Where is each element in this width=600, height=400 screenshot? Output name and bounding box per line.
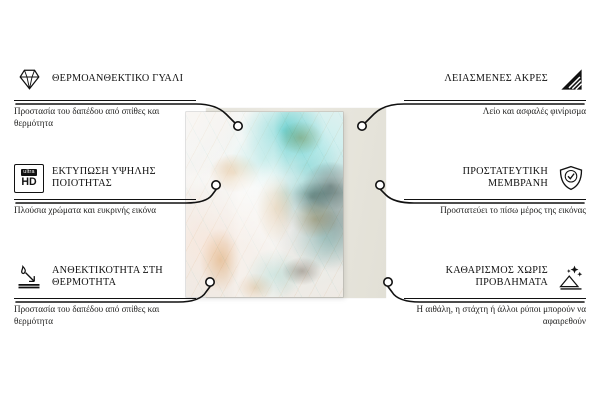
feature-description: Προστατεύει το πίσω μέρος της εικόνας (404, 205, 586, 217)
feature-header: ΠΡΟΣΤΑΤΕΥΤΙΚΗ ΜΕΜΒΡΑΝΗ (404, 161, 586, 195)
feature-title: ΑΝΘΕΚΤΙΚΟΤΗΤΑ ΣΤΗ ΘΕΡΜΟΤΗΤΑ (52, 265, 196, 290)
feature-header: ΛΕΙΑΣΜΕΝΕΣ ΑΚΡΕΣ (404, 62, 586, 96)
easy-clean-sparkle-icon (556, 262, 586, 292)
feature-divider (14, 100, 196, 101)
shield-check-icon (556, 163, 586, 193)
feature-description: Προστασία του δαπέδου από σπίθες και θερ… (14, 106, 196, 129)
feature-divider (14, 298, 196, 299)
feature-description: Πλούσια χρώματα και ευκρινής εικόνα (14, 205, 196, 217)
product-image (186, 112, 386, 297)
feature-title: ΘΕΡΜΟΑΝΘΕΚΤΙΚΟ ΓΥΑΛΙ (52, 73, 196, 85)
feature-high-quality-print: ultra HD ΕΚΤΥΠΩΣΗ ΥΨΗΛΗΣ ΠΟΙΟΤΗΤΑΣ Πλούσ… (14, 161, 196, 217)
feature-divider (404, 100, 586, 101)
feature-divider (404, 298, 586, 299)
feature-title: ΕΚΤΥΠΩΣΗ ΥΨΗΛΗΣ ΠΟΙΟΤΗΤΑΣ (52, 166, 196, 191)
feature-header: ΑΝΘΕΚΤΙΚΟΤΗΤΑ ΣΤΗ ΘΕΡΜΟΤΗΤΑ (14, 260, 196, 294)
feature-header: ΚΑΘΑΡΙΣΜΟΣ ΧΩΡΙΣ ΠΡΟΒΛΗΜΑΤΑ (404, 260, 586, 294)
feature-title: ΛΕΙΑΣΜΕΝΕΣ ΑΚΡΕΣ (404, 73, 548, 85)
feature-header: ultra HD ΕΚΤΥΠΩΣΗ ΥΨΗΛΗΣ ΠΟΙΟΤΗΤΑΣ (14, 161, 196, 195)
feature-description: Η αιθάλη, η στάχτη ή άλλοι ρύποι μπορούν… (404, 304, 586, 327)
badge-hd-label: HD (21, 177, 36, 188)
ultra-hd-badge-icon: ultra HD (14, 163, 44, 193)
feature-description: Λείο και ασφαλές φινίρισμα (404, 106, 586, 118)
feature-title: ΠΡΟΣΤΑΤΕΥΤΙΚΗ ΜΕΜΒΡΑΝΗ (404, 166, 548, 191)
heat-resistance-icon (14, 262, 44, 292)
feature-description: Προστασία του δαπέδου από σπίθες και θερ… (14, 304, 196, 327)
feature-title: ΚΑΘΑΡΙΣΜΟΣ ΧΩΡΙΣ ΠΡΟΒΛΗΜΑΤΑ (404, 265, 548, 290)
artwork-wash-layer (186, 112, 343, 297)
glass-panel (186, 112, 343, 297)
feature-easy-cleaning: ΚΑΘΑΡΙΣΜΟΣ ΧΩΡΙΣ ΠΡΟΒΛΗΜΑΤΑ Η αιθάλη, η … (404, 260, 586, 328)
feature-divider (14, 199, 196, 200)
badge-ultra-label: ultra (21, 169, 37, 176)
feature-heat-resistant-glass: ΘΕΡΜΟΑΝΘΕΚΤΙΚΟ ΓΥΑΛΙ Προστασία του δαπέδ… (14, 62, 196, 130)
product-feature-infographic: ΘΕΡΜΟΑΝΘΕΚΤΙΚΟ ΓΥΑΛΙ Προστασία του δαπέδ… (0, 0, 600, 400)
feature-divider (404, 199, 586, 200)
feature-polished-edges: ΛΕΙΑΣΜΕΝΕΣ ΑΚΡΕΣ Λείο και ασφαλές φινίρι… (404, 62, 586, 118)
feature-protective-film: ΠΡΟΣΤΑΤΕΥΤΙΚΗ ΜΕΜΒΡΑΝΗ Προστατεύει το πί… (404, 161, 586, 217)
polished-edges-icon (556, 64, 586, 94)
feature-header: ΘΕΡΜΟΑΝΘΕΚΤΙΚΟ ΓΥΑΛΙ (14, 62, 196, 96)
feature-heat-resistance: ΑΝΘΕΚΤΙΚΟΤΗΤΑ ΣΤΗ ΘΕΡΜΟΤΗΤΑ Προστασία το… (14, 260, 196, 328)
diamond-icon (14, 64, 44, 94)
